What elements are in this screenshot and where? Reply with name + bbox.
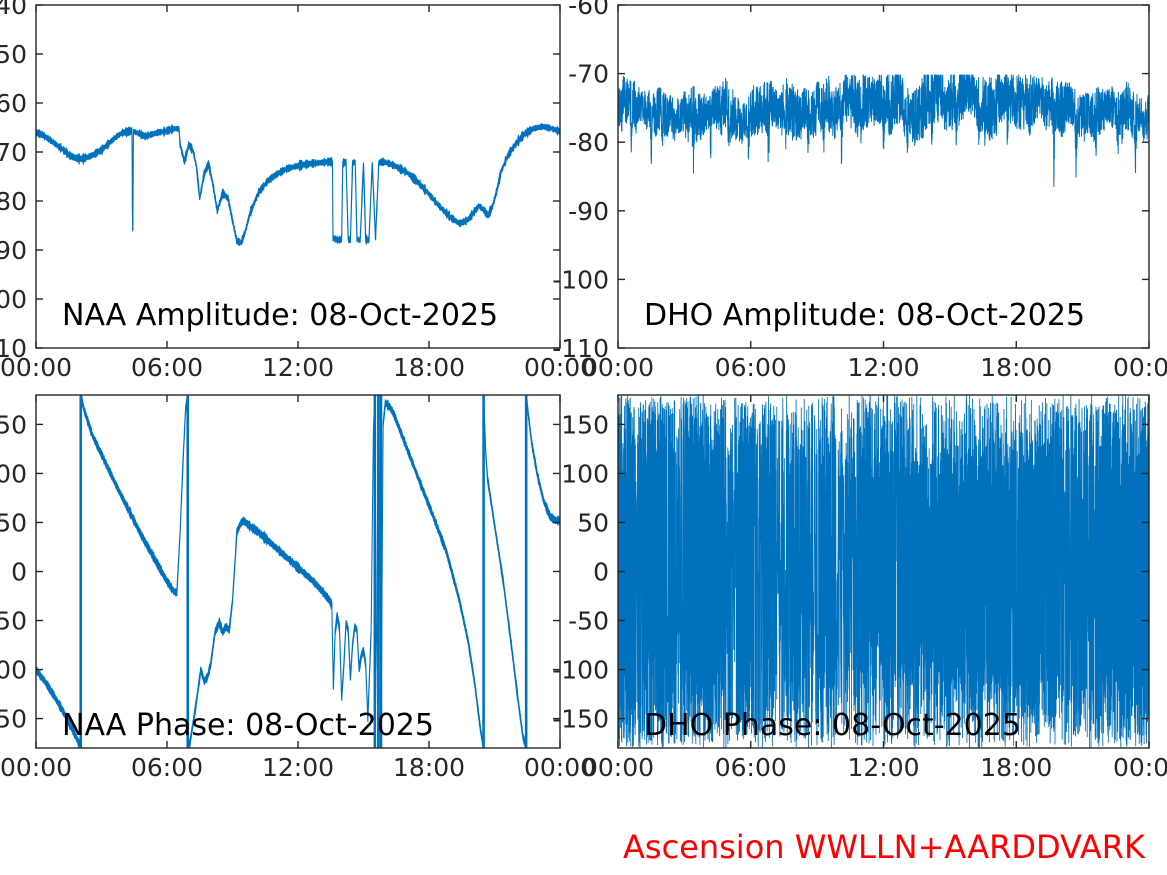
x-tick-label: 00:00 [1113,353,1167,382]
y-tick-label: 50 [577,508,609,537]
x-tick-label: 12:00 [262,353,334,382]
y-tick-label: -70 [568,60,609,89]
y-tick-label: -90 [0,236,27,265]
x-tick-label: 12:00 [847,353,919,382]
x-tick-label: 12:00 [262,753,334,782]
y-tick-label: -150 [0,705,27,734]
x-tick-label: 18:00 [393,753,465,782]
x-tick-label: 00:00 [0,353,72,382]
naa-amplitude-title: NAA Amplitude: 08-Oct-2025 [62,298,498,333]
dho-phase-trace [618,395,1149,748]
y-tick-label: 100 [0,459,27,488]
panel-dho-phase: 150100500-50-100-150 00:0006:0012:0018:0… [552,395,1167,782]
station-network-label: Ascension WWLLN+AARDDVARK [623,828,1146,866]
x-tick-label: 00:00 [0,753,72,782]
y-tick-label: -100 [0,285,27,314]
dho-phase-title: DHO Phase: 08-Oct-2025 [644,708,1021,743]
y-tick-label: -100 [0,656,27,685]
y-tick-label: -80 [568,128,609,157]
x-tick-label: 18:00 [980,353,1052,382]
y-tick-label: -60 [0,89,27,118]
x-tick-label: 18:00 [980,753,1052,782]
x-tick-label: 00:00 [1113,753,1167,782]
x-tick-label: 06:00 [715,753,787,782]
x-tick-label: 12:00 [847,753,919,782]
y-tick-label: -50 [0,40,27,69]
x-tick-label: 18:00 [393,353,465,382]
y-tick-label: -50 [568,607,609,636]
x-tick-label: 06:00 [131,753,203,782]
x-tick-label: 00:00 [582,353,654,382]
y-tick-label: -100 [552,656,609,685]
y-tick-label: 0 [593,558,609,587]
y-tick-label: 100 [561,459,609,488]
y-tick-label: -60 [568,0,609,20]
y-tick-label: -80 [0,187,27,216]
y-tick-label: 150 [0,410,27,439]
y-tick-label: -100 [552,265,609,294]
x-tick-label: 00:00 [582,753,654,782]
x-tick-label: 06:00 [715,353,787,382]
y-tick-label: 50 [0,508,27,537]
y-tick-label: 0 [11,558,27,587]
y-tick-label: -50 [0,607,27,636]
naa-phase-title: NAA Phase: 08-Oct-2025 [62,708,434,743]
dho-amplitude-title: DHO Amplitude: 08-Oct-2025 [644,298,1085,333]
y-tick-label: -70 [0,138,27,167]
y-tick-label: -40 [0,0,27,20]
dho-phase-series [618,395,1149,748]
aarddvark-four-panel-figure: -40-50-60-70-80-90-100-110 00:0006:0012:… [0,0,1167,875]
y-tick-label: 150 [561,410,609,439]
y-tick-label: -90 [568,197,609,226]
x-tick-label: 06:00 [131,353,203,382]
y-tick-label: -150 [552,705,609,734]
